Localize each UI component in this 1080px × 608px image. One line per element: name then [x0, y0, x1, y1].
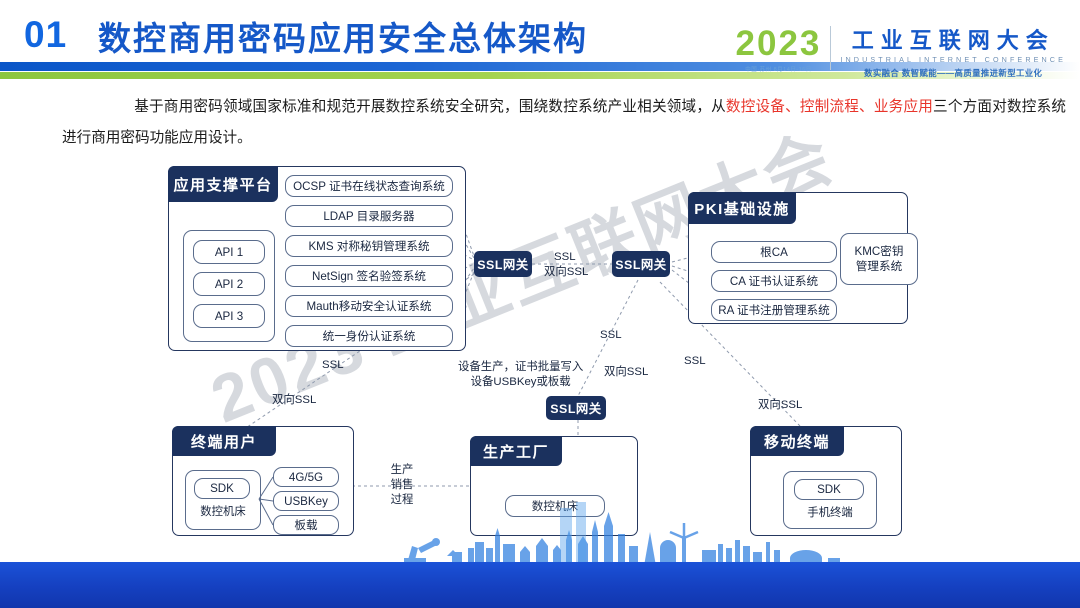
- skyline-graphic: [0, 498, 1080, 568]
- pki-box-ra[interactable]: RA 证书注册管理系统: [711, 299, 837, 321]
- slide: 01 数控商用密码应用安全总体架构 2023 中国·苏州 8月14日-16日 工…: [0, 0, 1080, 608]
- device-note-line-1: 设备生产，证书批量写入: [458, 361, 583, 373]
- logo-slogan: 数实融合 数智赋能——高质量推进新型工业化: [864, 67, 1042, 79]
- pki-box-kmc[interactable]: KMC密钥 管理系统: [840, 233, 918, 285]
- label-ssl-right-upper: SSL: [684, 354, 706, 369]
- label-ssl-left-upper: SSL: [322, 358, 344, 373]
- service-box-mauth[interactable]: Mauth移动安全认证系统: [285, 295, 453, 317]
- logo-year: 2023: [736, 26, 822, 61]
- label-ssl-mid-bottom: 双向SSL: [544, 265, 588, 280]
- logo-name-en: INDUSTRIAL INTERNET CONFERENCE: [840, 55, 1066, 64]
- service-box-kms[interactable]: KMS 对称秘钥管理系统: [285, 235, 453, 257]
- process-line-2: 销售: [391, 479, 414, 491]
- page-title: 数控商用密码应用安全总体架构: [98, 12, 588, 60]
- panel-app-platform-title: 应用支撑平台: [168, 166, 278, 202]
- pki-box-ca[interactable]: CA 证书认证系统: [711, 270, 837, 292]
- ssl-gateway-right[interactable]: SSL网关: [612, 251, 670, 277]
- mobile-sdk-box[interactable]: SDK: [794, 479, 864, 500]
- logo-date: 中国·苏州 8月14日-16日: [745, 65, 812, 73]
- label-ssl-center-bidir: 双向SSL: [604, 365, 648, 380]
- device-note-line-2: 设备USBKey或板载: [471, 376, 571, 388]
- panel-mobile-title: 移动终端: [750, 426, 844, 456]
- label-ssl-left-lower: 双向SSL: [272, 393, 316, 408]
- service-box-unified-auth[interactable]: 统一身份认证系统: [285, 325, 453, 347]
- kmc-line-2: 管理系统: [856, 259, 902, 274]
- ssl-gateway-bottom[interactable]: SSL网关: [546, 396, 606, 420]
- label-ssl-right-lower: 双向SSL: [758, 398, 802, 413]
- ssl-gateway-left[interactable]: SSL网关: [474, 251, 532, 277]
- panel-factory-title: 生产工厂: [470, 436, 562, 466]
- slide-header: 01 数控商用密码应用安全总体架构 2023 中国·苏州 8月14日-16日 工…: [0, 0, 1080, 88]
- paragraph-highlight1: 数控设备、控制流程、: [726, 99, 874, 115]
- process-line-1: 生产: [391, 464, 414, 476]
- section-number: 01: [24, 14, 67, 56]
- service-box-ldap[interactable]: LDAP 目录服务器: [285, 205, 453, 227]
- paragraph-part1: 基于商用密码领域国家标准和规范开展数控系统安全研究，围绕数控系统产业相关领域，从: [134, 99, 726, 115]
- kmc-line-1: KMC密钥: [855, 244, 904, 259]
- label-ssl-center-right: SSL: [600, 328, 622, 343]
- label-device-note: 设备生产，证书批量写入 设备USBKey或板载: [458, 360, 583, 390]
- api-group: API 1 API 2 API 3: [183, 230, 275, 342]
- service-box-ocsp[interactable]: OCSP 证书在线状态查询系统: [285, 175, 453, 197]
- paragraph-highlight2: 业务应用: [874, 99, 933, 115]
- panel-app-platform: 应用支撑平台 API 1 API 2 API 3 OCSP 证书在线状态查询系统…: [168, 166, 466, 351]
- api-box-1[interactable]: API 1: [193, 240, 265, 264]
- label-ssl-mid-top: SSL: [554, 250, 576, 265]
- api-box-3[interactable]: API 3: [193, 304, 265, 328]
- panel-pki-title: PKI基础设施: [688, 192, 796, 224]
- conference-logo: 2023 中国·苏州 8月14日-16日 工业互联网大会 INDUSTRIAL …: [736, 26, 1066, 82]
- logo-name-cn: 工业互联网大会: [852, 30, 1055, 52]
- footer-band: [0, 562, 1080, 608]
- intro-paragraph: 基于商用密码领域国家标准和规范开展数控系统安全研究，围绕数控系统产业相关领域，从…: [62, 92, 1066, 154]
- api-box-2[interactable]: API 2: [193, 272, 265, 296]
- logo-divider: [830, 26, 831, 70]
- pki-box-root-ca[interactable]: 根CA: [711, 241, 837, 263]
- service-box-netsign[interactable]: NetSign 签名验签系统: [285, 265, 453, 287]
